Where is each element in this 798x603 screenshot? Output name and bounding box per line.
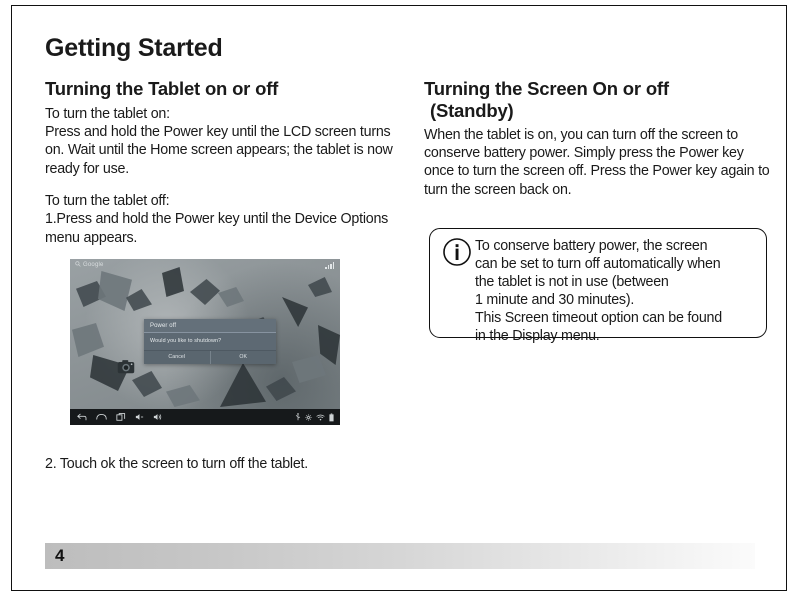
info-note-text: To conserve battery power, the screen ca… bbox=[475, 237, 758, 345]
right-column-body: When the tablet is on, you can turn off … bbox=[424, 126, 774, 199]
note-line-3: the tablet is not in use (between bbox=[475, 273, 758, 291]
search-icon bbox=[75, 261, 81, 269]
camera-icon[interactable] bbox=[117, 359, 135, 379]
google-search-label: Google bbox=[83, 262, 104, 268]
page-number: 4 bbox=[55, 546, 64, 566]
paragraph-turn-off-step1: 1.Press and hold the Power key until the… bbox=[45, 210, 395, 247]
cancel-button[interactable]: Cancel bbox=[144, 351, 211, 364]
back-icon[interactable] bbox=[77, 413, 87, 421]
usb-icon[interactable] bbox=[295, 413, 301, 421]
ok-button[interactable]: OK bbox=[211, 351, 277, 364]
dialog-button-row: Cancel OK bbox=[144, 351, 276, 364]
paragraph-standby: When the tablet is on, you can turn off … bbox=[424, 126, 774, 199]
section-heading-line2: (Standby) bbox=[424, 100, 774, 122]
page-title: Getting Started bbox=[45, 36, 223, 61]
status-icons-group bbox=[295, 413, 334, 422]
settings-icon[interactable] bbox=[305, 414, 312, 421]
section-heading-line1: Turning the Screen On or off bbox=[424, 78, 774, 100]
dialog-message: Would you like to shutdown? bbox=[144, 333, 276, 351]
note-line-6: in the Display menu. bbox=[475, 327, 758, 345]
left-column: Turning the Tablet on or off To turn the… bbox=[45, 78, 395, 247]
section-heading-tablet-power: Turning the Tablet on or off bbox=[45, 78, 395, 100]
paragraph-turn-on-label: To turn the tablet on: bbox=[45, 105, 395, 123]
signal-bars-icon bbox=[325, 262, 334, 269]
manual-page: Getting Started Turning the Tablet on or… bbox=[11, 5, 787, 591]
volume-down-icon[interactable] bbox=[135, 413, 144, 421]
tablet-screenshot-figure: Google Power off Would you like to shutd… bbox=[70, 259, 340, 425]
note-line-2: can be set to turn off automatically whe… bbox=[475, 255, 758, 273]
dialog-title: Power off bbox=[144, 319, 276, 333]
tablet-navigation-bar bbox=[70, 409, 340, 425]
power-off-dialog: Power off Would you like to shutdown? Ca… bbox=[144, 319, 276, 364]
right-column: Turning the Screen On or off (Standby) W… bbox=[424, 78, 774, 199]
note-line-1: To conserve battery power, the screen bbox=[475, 237, 758, 255]
paragraph-turn-on-steps: Press and hold the Power key until the L… bbox=[45, 123, 395, 178]
google-search-widget[interactable]: Google bbox=[75, 261, 104, 269]
left-column-body: To turn the tablet on: Press and hold th… bbox=[45, 105, 395, 247]
paragraph-turn-off-label: To turn the tablet off: bbox=[45, 192, 395, 210]
volume-up-icon[interactable] bbox=[153, 413, 162, 421]
tablet-status-bar: Google bbox=[70, 259, 340, 272]
note-line-4: 1 minute and 30 minutes). bbox=[475, 291, 758, 309]
battery-icon[interactable] bbox=[329, 413, 334, 422]
note-line-5: This Screen timeout option can be found bbox=[475, 309, 758, 327]
section-heading-screen-standby: Turning the Screen On or off (Standby) bbox=[424, 78, 774, 122]
figure-caption: 2. Touch ok the screen to turn off the t… bbox=[45, 456, 308, 472]
home-icon[interactable] bbox=[96, 413, 107, 421]
recents-icon[interactable] bbox=[116, 413, 126, 421]
nav-buttons-group bbox=[77, 413, 162, 421]
footer-bar: 4 bbox=[45, 543, 755, 569]
info-icon bbox=[442, 237, 472, 267]
wifi-icon[interactable] bbox=[316, 414, 325, 421]
info-note-box: To conserve battery power, the screen ca… bbox=[429, 228, 767, 338]
